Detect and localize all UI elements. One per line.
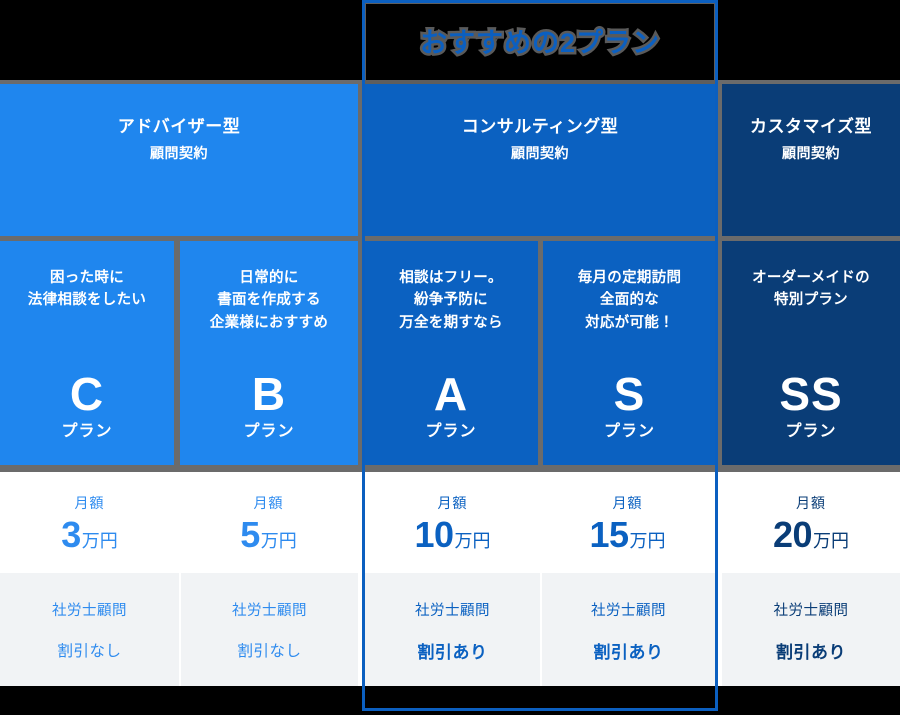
note-top-label: 社労士顧問 — [52, 601, 127, 621]
plan-description-line: 毎月の定期訪問 — [578, 267, 682, 289]
note-cell-b: 社労士顧問 割引なし — [181, 573, 358, 686]
note-top-label: 社労士顧問 — [232, 601, 307, 621]
price-amount: 15 万円 — [589, 517, 665, 554]
rule-soft-b-a — [358, 472, 365, 686]
rule-h-top-right — [722, 80, 900, 84]
type-header-title: コンサルティング型 — [462, 115, 618, 138]
type-header-consulting: コンサルティング型 顧問契約 — [364, 84, 716, 236]
plan-description-line: 全面的な — [578, 289, 682, 311]
price-value: 10 — [414, 517, 453, 553]
type-header-title: アドバイザー型 — [118, 115, 241, 138]
plan-description-line: 法律相談をしたい — [28, 289, 146, 311]
price-cell-ss: 月額 20 万円 — [722, 472, 900, 573]
plan-description-line: 相談はフリー。 — [399, 267, 503, 289]
plan-grade: S — [614, 371, 646, 417]
price-value: 20 — [773, 517, 812, 553]
plan-description-line: 紛争予防に — [399, 289, 503, 311]
recommend-banner-label: おすすめの2プラン — [420, 21, 660, 60]
price-label: 月額 — [438, 494, 468, 513]
rule-v-c-b — [174, 241, 180, 465]
price-amount: 20 万円 — [773, 517, 849, 554]
plan-description-line: 困った時に — [28, 267, 146, 289]
plan-grade-sub: プラン — [243, 421, 294, 443]
note-cell-s: 社労士顧問 割引あり — [542, 573, 715, 686]
plan-description-line: 万全を期すなら — [399, 312, 503, 334]
plan-description-line: オーダーメイドの — [752, 267, 870, 289]
plan-cell-a: 相談はフリー。 紛争予防に 万全を期すなら A プラン — [364, 241, 538, 465]
plan-description-line: 対応が可能！ — [578, 312, 682, 334]
plan-grade-sub: プラン — [604, 421, 655, 443]
note-cell-a: 社労士顧問 割引あり — [365, 573, 540, 686]
plan-grade-sub: プラン — [425, 421, 476, 443]
plan-cell-c: 困った時に 法律相談をしたい C プラン — [0, 241, 174, 465]
price-unit: 万円 — [82, 529, 118, 554]
rule-h-header-plan — [0, 236, 900, 241]
price-amount: 10 万円 — [414, 517, 490, 554]
price-amount: 5 万円 — [240, 517, 297, 554]
type-header-advisor: アドバイザー型 顧問契約 — [0, 84, 358, 236]
note-bottom-label: 割引あり — [776, 641, 846, 664]
rule-h-plan-price — [0, 465, 900, 472]
rule-h-top-left — [0, 80, 358, 84]
plan-grade: SS — [779, 371, 842, 417]
plan-description: 毎月の定期訪問 全面的な 対応が可能！ — [578, 267, 682, 334]
rule-soft-s-ss — [715, 472, 722, 686]
plan-description-line: 書面を作成する — [210, 289, 328, 311]
plan-grade: A — [434, 371, 468, 417]
note-top-label: 社労士顧問 — [415, 601, 490, 621]
price-amount: 3 万円 — [61, 517, 118, 554]
price-unit: 万円 — [813, 529, 849, 554]
price-cell-c: 月額 3 万円 — [0, 472, 179, 573]
plan-description: オーダーメイドの 特別プラン — [752, 267, 870, 312]
price-unit: 万円 — [455, 529, 491, 554]
type-header-title: カスタマイズ型 — [750, 115, 872, 138]
price-label: 月額 — [796, 494, 826, 513]
plan-cell-ss: オーダーメイドの 特別プラン SS プラン — [722, 241, 900, 465]
note-cell-ss: 社労士顧問 割引あり — [722, 573, 900, 686]
note-bottom-label: 割引なし — [237, 641, 301, 662]
plan-description: 相談はフリー。 紛争予防に 万全を期すなら — [399, 267, 503, 334]
price-value: 15 — [589, 517, 628, 553]
price-unit: 万円 — [261, 529, 297, 554]
plan-grade-sub: プラン — [785, 421, 836, 443]
price-cell-a: 月額 10 万円 — [365, 472, 540, 573]
plan-cell-b: 日常的に 書面を作成する 企業様におすすめ B プラン — [180, 241, 358, 465]
plan-grade: C — [70, 371, 104, 417]
type-header-sub: 顧問契約 — [150, 144, 208, 163]
note-cell-c: 社労士顧問 割引なし — [0, 573, 179, 686]
note-top-label: 社労士顧問 — [591, 601, 666, 621]
note-bottom-label: 割引あり — [594, 641, 664, 664]
price-label: 月額 — [254, 494, 284, 513]
rule-soft-a-s — [540, 573, 542, 686]
price-value: 5 — [240, 517, 260, 553]
plan-cell-s: 毎月の定期訪問 全面的な 対応が可能！ S プラン — [543, 241, 716, 465]
rule-v-advisor-consulting — [358, 80, 364, 465]
plan-grade-sub: プラン — [61, 421, 112, 443]
type-header-sub: 顧問契約 — [511, 144, 569, 163]
plan-description-line: 企業様におすすめ — [210, 312, 328, 334]
rule-v-a-s — [538, 241, 543, 465]
price-cell-b: 月額 5 万円 — [179, 472, 358, 573]
plan-grade: B — [252, 371, 286, 417]
note-bottom-label: 割引なし — [57, 641, 121, 662]
price-cell-s: 月額 15 万円 — [540, 472, 715, 573]
plan-description-line: 特別プラン — [752, 289, 870, 311]
note-bottom-label: 割引あり — [418, 641, 488, 664]
pricing-table: おすすめの2プラン アドバイザー型 顧問契約 コンサルティング型 顧問契約 カス… — [0, 0, 900, 715]
price-label: 月額 — [613, 494, 643, 513]
type-header-sub: 顧問契約 — [782, 144, 840, 163]
price-label: 月額 — [75, 494, 105, 513]
plan-description: 日常的に 書面を作成する 企業様におすすめ — [210, 267, 328, 334]
plan-description-line: 日常的に — [210, 267, 328, 289]
rule-soft-c-b — [179, 573, 181, 686]
rule-v-consulting-custom — [716, 80, 722, 465]
type-header-custom: カスタマイズ型 顧問契約 — [722, 84, 900, 236]
plan-description: 困った時に 法律相談をしたい — [28, 267, 146, 312]
recommend-banner: おすすめの2プラン — [362, 0, 718, 80]
note-top-label: 社労士顧問 — [774, 601, 849, 621]
price-value: 3 — [61, 517, 81, 553]
price-unit: 万円 — [630, 529, 666, 554]
